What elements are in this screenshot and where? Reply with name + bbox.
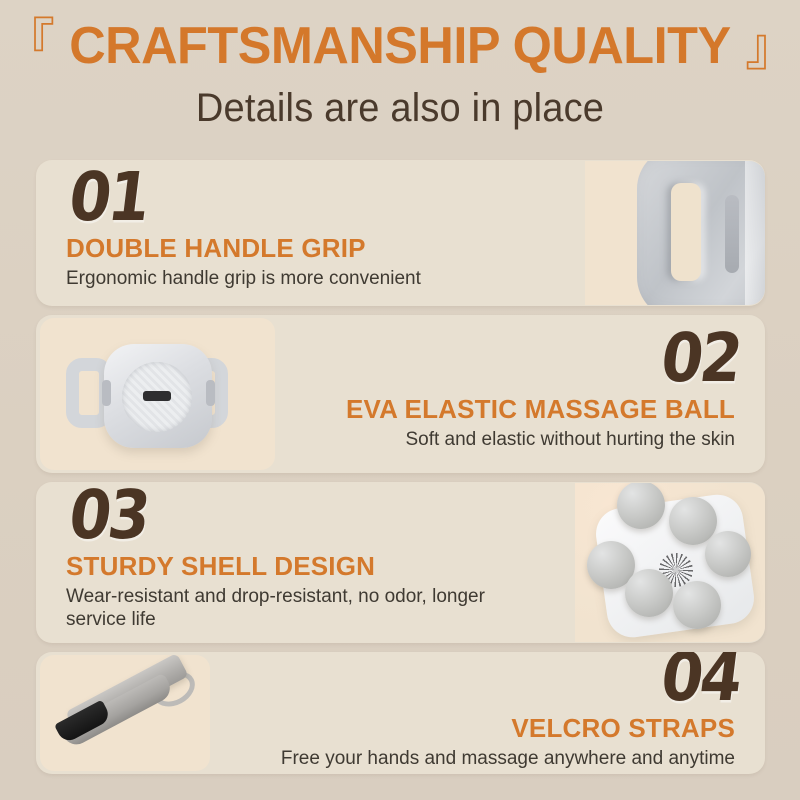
page-title: CRAFTSMANSHIP QUALITY xyxy=(69,20,730,72)
massage-ball xyxy=(617,483,665,529)
feature-card-3: 03 STURDY SHELL DESIGN Wear-resistant an… xyxy=(36,482,765,643)
feature-card-4: 04 VELCRO STRAPS Free your hands and mas… xyxy=(36,652,765,774)
corner-bracket-left-icon: 『 xyxy=(3,18,55,70)
velcro-strap-illustration xyxy=(40,655,210,771)
infographic-page: 『 CRAFTSMANSHIP QUALITY 』 Details are al… xyxy=(0,0,800,800)
device-button-left xyxy=(102,380,111,406)
grip-hole-shape xyxy=(671,183,701,281)
massage-ball xyxy=(625,569,673,617)
feature-heading-3: STURDY SHELL DESIGN xyxy=(66,552,549,581)
feature-card-2: 02 EVA ELASTIC MASSAGE BALL Soft and ela… xyxy=(36,315,765,473)
massager-device-illustration xyxy=(40,318,275,470)
device-button-right xyxy=(206,380,215,406)
massage-ball xyxy=(705,531,751,577)
feature-heading-4: VELCRO STRAPS xyxy=(511,714,735,743)
feature-card-3-text: 03 STURDY SHELL DESIGN Wear-resistant an… xyxy=(36,482,575,643)
title-row: 『 CRAFTSMANSHIP QUALITY 』 xyxy=(0,14,800,78)
feature-description-1: Ergonomic handle grip is more convenient xyxy=(66,267,559,290)
grip-edge-shape xyxy=(745,161,765,305)
handle-grip-image xyxy=(585,161,765,305)
feature-card-1: 01 DOUBLE HANDLE GRIP Ergonomic handle g… xyxy=(36,160,765,306)
page-subtitle: Details are also in place xyxy=(20,88,780,128)
feature-number-3: 03 xyxy=(66,488,556,546)
grip-slot-shape xyxy=(725,195,739,273)
feature-card-1-text: 01 DOUBLE HANDLE GRIP Ergonomic handle g… xyxy=(36,160,585,306)
feature-description-4: Free your hands and massage anywhere and… xyxy=(281,747,735,770)
page-header: 『 CRAFTSMANSHIP QUALITY 』 Details are al… xyxy=(0,0,800,128)
handle-grip-illustration xyxy=(585,161,765,305)
feature-heading-1: DOUBLE HANDLE GRIP xyxy=(66,234,559,263)
massage-balls-image xyxy=(575,483,765,642)
feature-card-list: 01 DOUBLE HANDLE GRIP Ergonomic handle g… xyxy=(36,160,765,783)
massage-balls-illustration xyxy=(575,483,765,642)
massage-ball xyxy=(673,581,721,629)
device-logo-badge xyxy=(143,391,171,401)
feature-number-2: 02 xyxy=(658,331,743,389)
feature-description-2: Soft and elastic without hurting the ski… xyxy=(405,428,735,451)
feature-number-1: 01 xyxy=(66,170,566,228)
velcro-strap-image xyxy=(40,655,210,771)
feature-heading-2: EVA ELASTIC MASSAGE BALL xyxy=(346,395,735,424)
feature-description-3: Wear-resistant and drop-resistant, no od… xyxy=(66,585,549,631)
feature-card-2-text: 02 EVA ELASTIC MASSAGE BALL Soft and ela… xyxy=(275,315,765,473)
massager-device-image xyxy=(40,318,275,470)
feature-number-4: 04 xyxy=(658,652,743,708)
corner-bracket-right-icon: 』 xyxy=(745,22,797,74)
feature-card-4-text: 04 VELCRO STRAPS Free your hands and mas… xyxy=(210,652,765,774)
